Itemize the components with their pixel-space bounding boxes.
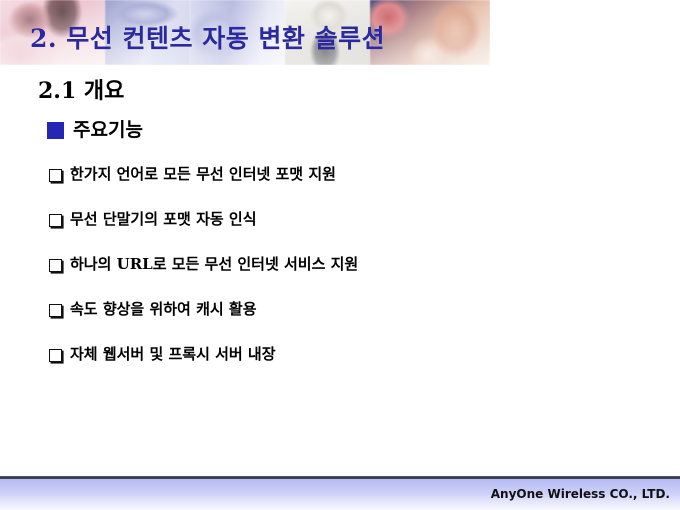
hollow-square-bullet-icon [49, 259, 62, 272]
hollow-square-bullet-icon [49, 349, 62, 362]
list-item: 하나의 URL로 모든 무선 인터넷 서비스 지원 [49, 254, 609, 299]
list-item-label: 한가지 언어로 모든 무선 인터넷 포맷 지원 [70, 164, 336, 184]
filled-square-bullet-icon [47, 122, 64, 139]
list-item: 한가지 언어로 모든 무선 인터넷 포맷 지원 [49, 164, 609, 209]
list-item-label: 속도 향상을 위하여 캐시 활용 [70, 299, 257, 319]
slide-title: 2. 무선 컨텐츠 자동 변환 솔루션 [30, 24, 385, 54]
footer-company-name: AnyOne Wireless CO., LTD. [491, 487, 670, 502]
header-banner: 2. 무선 컨텐츠 자동 변환 솔루션 [0, 0, 490, 65]
subheading: 주요기능 [47, 119, 143, 142]
list-item: 무선 단말기의 포맷 자동 인식 [49, 209, 609, 254]
list-item-label: 무선 단말기의 포맷 자동 인식 [70, 209, 257, 229]
section-heading: 2.1 개요 [38, 78, 124, 105]
hollow-square-bullet-icon [49, 214, 62, 227]
list-item-label: 자체 웹서버 및 프록시 서버 내장 [70, 344, 276, 364]
footer-band: AnyOne Wireless CO., LTD. [0, 479, 680, 510]
feature-bullet-list: 한가지 언어로 모든 무선 인터넷 포맷 지원 무선 단말기의 포맷 자동 인식… [49, 164, 609, 389]
hollow-square-bullet-icon [49, 304, 62, 317]
list-item: 속도 향상을 위하여 캐시 활용 [49, 299, 609, 344]
list-item-label: 하나의 URL로 모든 무선 인터넷 서비스 지원 [70, 254, 358, 274]
subheading-label: 주요기능 [73, 119, 143, 142]
list-item: 자체 웹서버 및 프록시 서버 내장 [49, 344, 609, 389]
hollow-square-bullet-icon [49, 169, 62, 182]
